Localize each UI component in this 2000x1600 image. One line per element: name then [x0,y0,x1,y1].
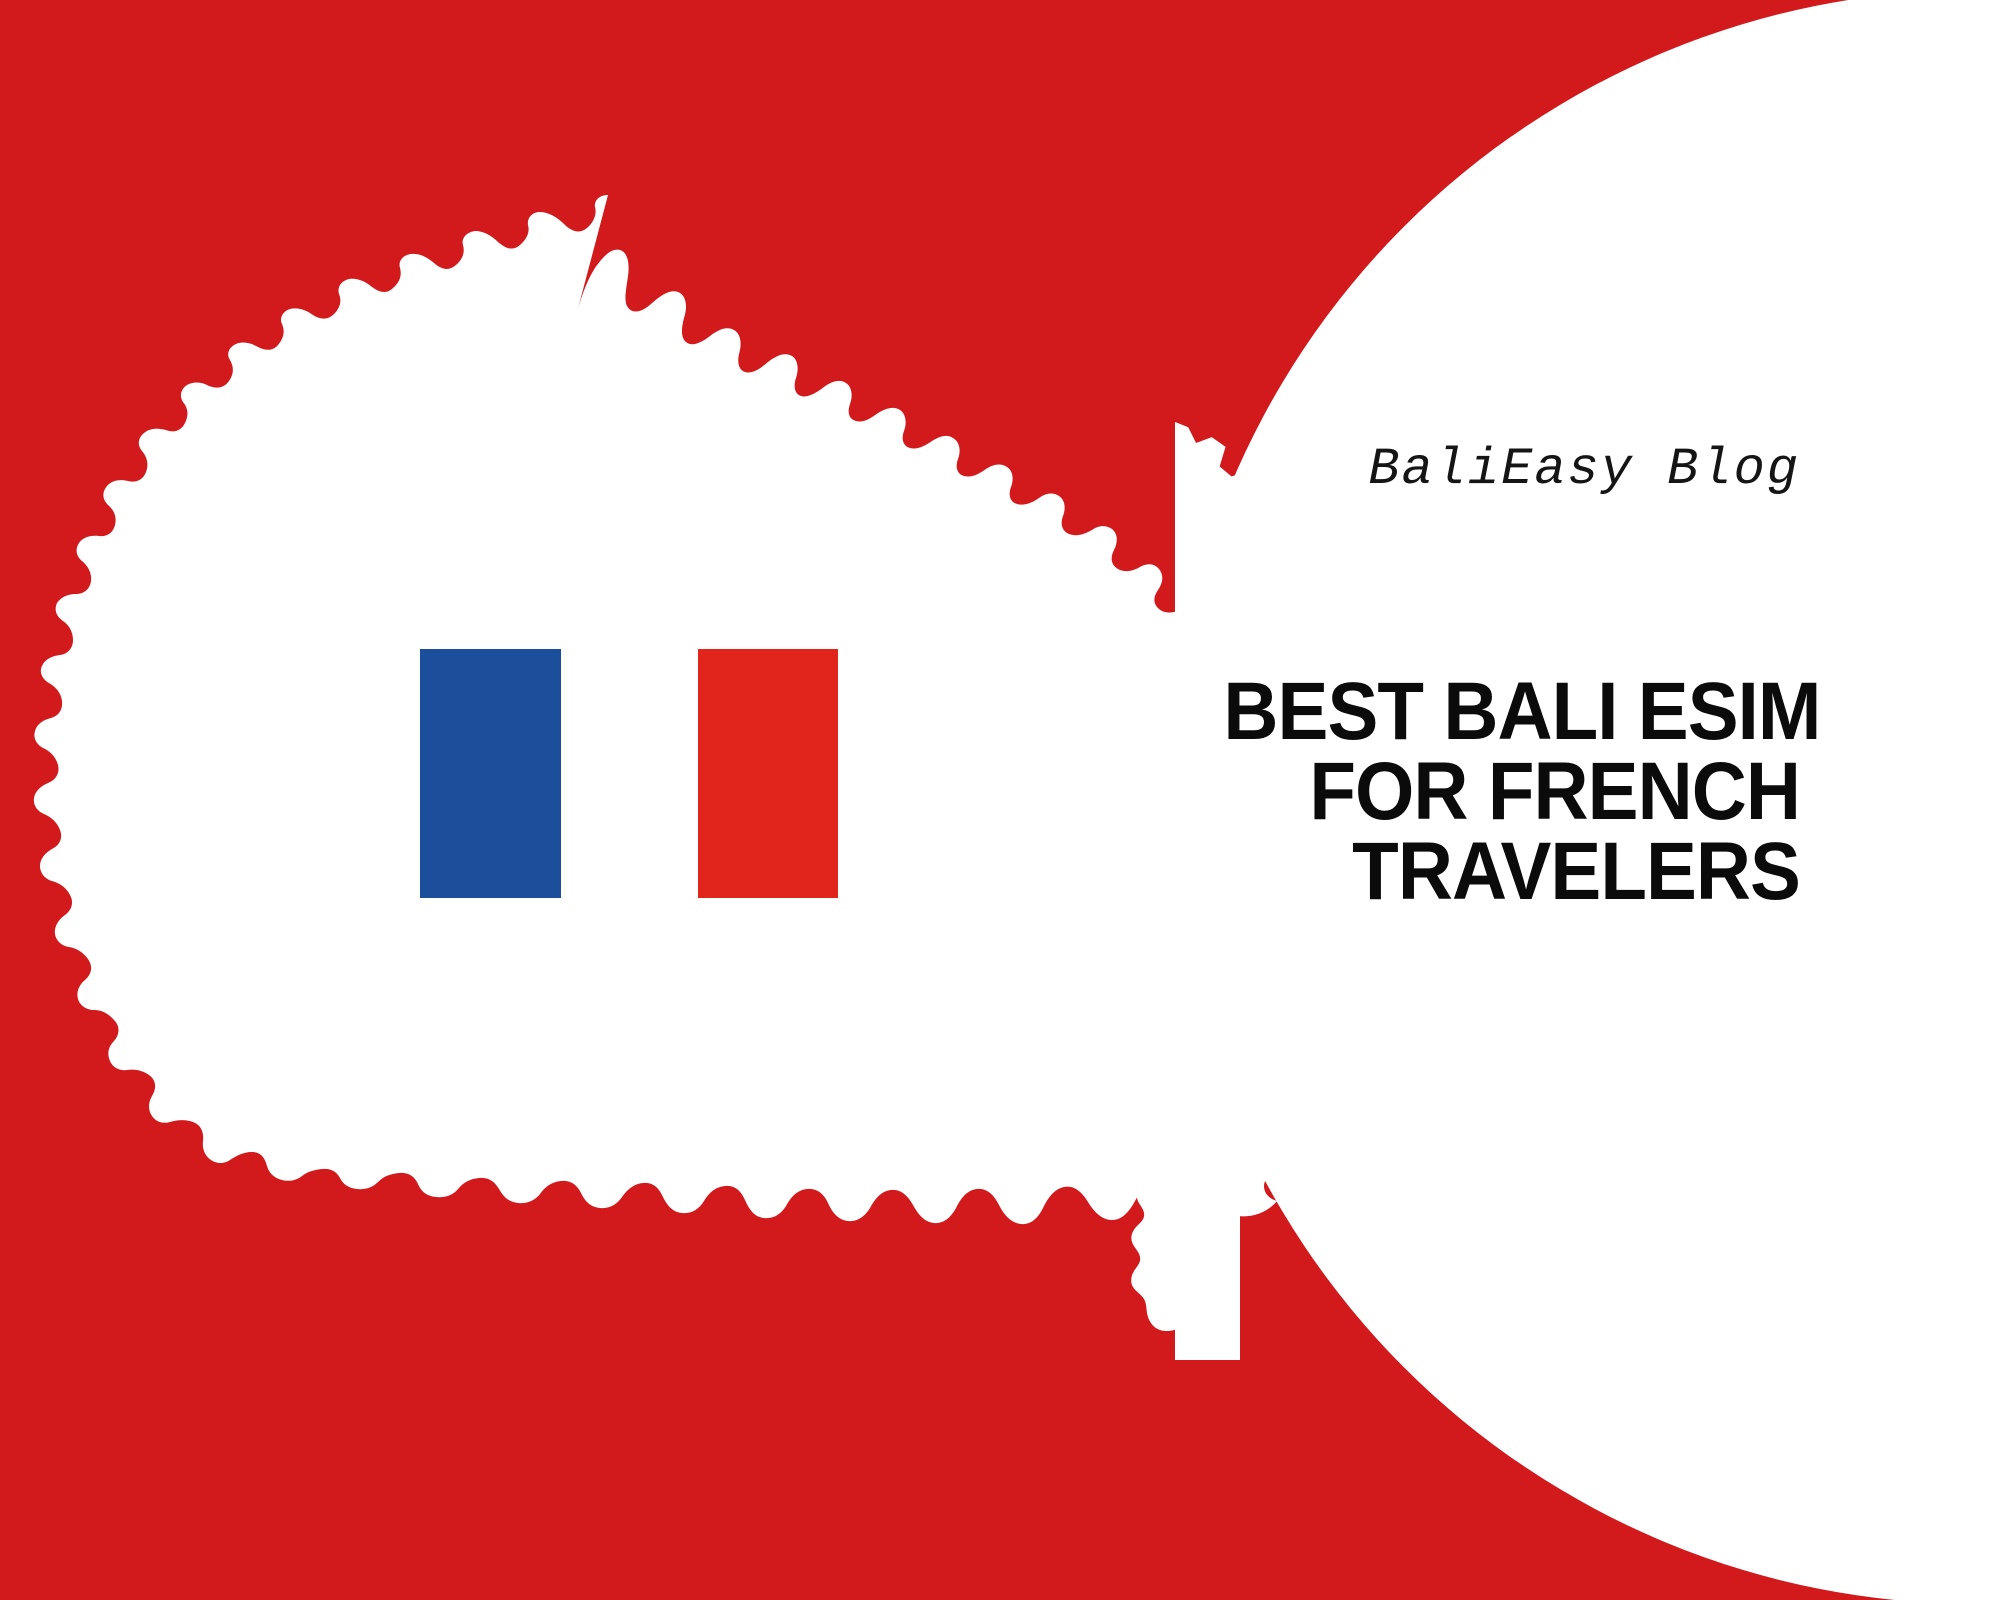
flag-band-white [561,649,698,898]
poster-canvas: BaliEasy Blog BEST BALI ESIM FOR FRENCH … [0,0,2000,1600]
france-map-render [0,0,2000,1600]
flag-band-red [698,649,838,898]
flag-band-blue [420,649,561,898]
french-flag [420,649,838,898]
